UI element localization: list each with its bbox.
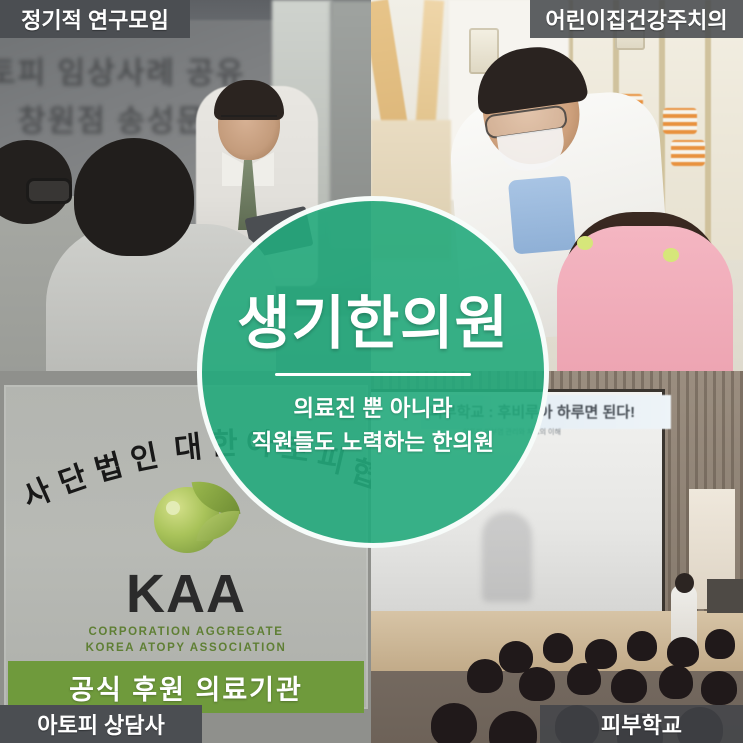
audience-head xyxy=(543,633,573,663)
podium-table xyxy=(707,579,743,613)
projected-figure xyxy=(482,512,532,602)
slide-text-line1: 토피 임상사례 공유 xyxy=(0,48,245,92)
audience-head xyxy=(659,665,693,699)
caption-top-left: 정기적 연구모임 xyxy=(0,0,190,38)
badge-subtitle-line1: 의료진 뿐 아니라 xyxy=(293,392,452,426)
logo-highlight-dot xyxy=(166,501,180,515)
badge-subtitle-line2: 직원들도 노력하는 한의원 xyxy=(252,426,495,460)
doctor-shirt xyxy=(508,175,576,254)
tape-roll-2 xyxy=(663,108,697,134)
clinic-name: 생기한의원 xyxy=(237,294,509,355)
caption-top-right: 어린이집건강주치의 xyxy=(530,0,743,38)
presenter-glasses xyxy=(221,115,277,127)
audience-head xyxy=(611,669,647,703)
official-sponsor-text: 공식 후원 의료기관 xyxy=(69,668,303,707)
hair-tie-right xyxy=(663,248,679,262)
audience-head xyxy=(705,629,735,659)
kaa-wordmark: KAA xyxy=(4,567,368,621)
kaa-subtext-line2: KOREA ATOPY ASSOCIATION xyxy=(4,641,368,657)
attendee-center-head xyxy=(74,138,194,256)
tape-roll-3 xyxy=(671,140,705,166)
audience-head xyxy=(519,667,555,701)
slide-text-line2: 창원점 송성문 xyxy=(18,96,206,140)
audience-head xyxy=(667,637,699,667)
photo-collage: 토피 임상사례 공유 창원점 송성문 xyxy=(0,0,743,743)
kaa-logo-icon xyxy=(150,479,242,563)
audience-head xyxy=(627,631,657,661)
audience-head xyxy=(489,711,537,743)
center-brand-badge: 생기한의원 의료진 뿐 아니라 직원들도 노력하는 한의원 xyxy=(197,196,549,548)
kaa-subtext-line1: CORPORATION AGGREGATE xyxy=(4,625,368,641)
hair-tie-left xyxy=(577,236,593,250)
audience-head xyxy=(431,703,477,743)
audience-head xyxy=(701,671,737,705)
badge-divider xyxy=(275,373,471,376)
attendee-left-glasses xyxy=(26,178,72,204)
caption-bottom-left: 아토피 상담사 xyxy=(0,705,202,743)
lecturer-head xyxy=(675,573,694,593)
audience-head xyxy=(567,663,601,695)
caption-bottom-right: 피부학교 xyxy=(540,705,743,743)
kaa-subtext: CORPORATION AGGREGATE KOREA ATOPY ASSOCI… xyxy=(4,625,368,656)
audience-head xyxy=(467,659,503,693)
